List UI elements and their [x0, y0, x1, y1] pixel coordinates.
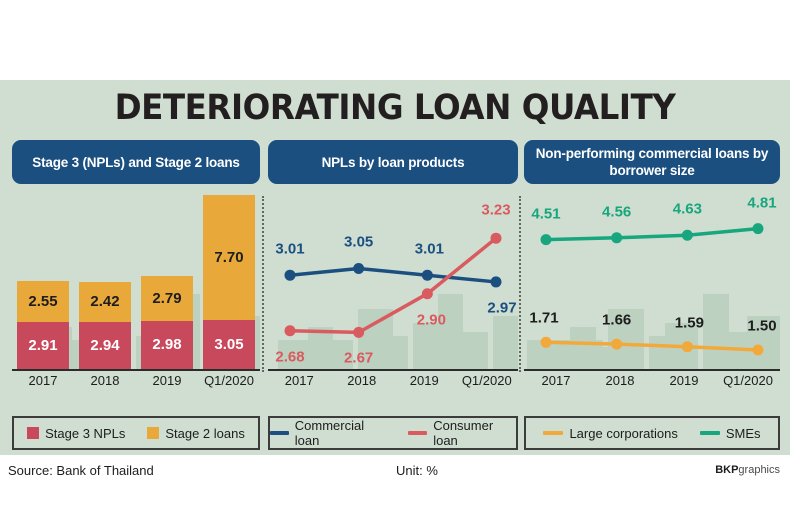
legend-label: Commercial loan: [295, 418, 387, 448]
line-chart-plot-2: 3.013.053.012.972.682.672.903.23 2017201…: [268, 188, 518, 393]
panel-header-1: Stage 3 (NPLs) and Stage 2 loans: [12, 140, 260, 184]
data-point-marker: [682, 341, 693, 352]
data-point-marker: [285, 270, 296, 281]
data-value-label: 1.66: [602, 312, 631, 329]
footer: Source: Bank of Thailand Unit: % BKPgrap…: [0, 455, 790, 527]
data-value-label: 4.63: [673, 201, 702, 218]
legend-label: SMEs: [726, 426, 761, 441]
data-value-label: 1.50: [747, 318, 776, 335]
data-value-label: 2.97: [487, 299, 516, 316]
x-axis-labels: 201720182019Q1/2020: [524, 373, 780, 393]
logo-light: graphics: [738, 464, 780, 476]
legend-item: Stage 2 loans: [147, 426, 245, 441]
data-point-marker: [491, 233, 502, 244]
x-axis-labels: 201720182019Q1/2020: [12, 373, 260, 393]
legend-swatch: [543, 431, 563, 435]
x-axis-tick-label: 2017: [12, 373, 74, 393]
x-axis-tick-label: 2017: [524, 373, 588, 393]
data-value-label: 2.68: [275, 348, 304, 365]
bar-segment-stage2: 2.55: [17, 281, 69, 322]
stacked-bar: 2.792.98: [141, 276, 193, 369]
data-value-label: 2.90: [417, 311, 446, 328]
unit-text: Unit: %: [396, 463, 438, 478]
x-axis-tick-label: Q1/2020: [716, 373, 780, 393]
stacked-bar: 7.703.05: [203, 195, 255, 369]
panel-stage3-stage2: Stage 3 (NPLs) and Stage 2 loans 2.552.9…: [12, 140, 260, 450]
data-value-label: 2.67: [344, 350, 373, 367]
bkp-graphics-logo: BKPgraphics: [715, 464, 780, 476]
x-axis-line: [524, 369, 780, 371]
data-point-marker: [753, 223, 764, 234]
data-value-label: 4.81: [747, 194, 776, 211]
bar-chart-plot: 2.552.912.422.942.792.987.703.05 2017201…: [12, 188, 260, 393]
x-axis-line: [12, 369, 260, 371]
x-axis-tick-label: 2018: [588, 373, 652, 393]
line-series-group: 3.013.053.012.972.682.672.903.23: [268, 188, 518, 369]
data-point-marker: [753, 345, 764, 356]
bar-column: 2.552.91: [12, 188, 74, 369]
legend-swatch: [408, 431, 427, 435]
legend-label: Consumer loan: [433, 418, 516, 448]
data-point-marker: [682, 230, 693, 241]
bar-column: 2.422.94: [74, 188, 136, 369]
x-axis-tick-label: Q1/2020: [198, 373, 260, 393]
data-value-label: 1.59: [675, 314, 704, 331]
panel-commercial-by-size: Non-performing commercial loans by borro…: [524, 140, 780, 450]
legend-swatch: [147, 427, 159, 439]
x-axis-tick-label: 2018: [331, 373, 394, 393]
data-value-label: 3.05: [344, 234, 373, 251]
legend-label: Large corporations: [569, 426, 677, 441]
bar-segment-stage2: 7.70: [203, 195, 255, 319]
data-point-marker: [353, 263, 364, 274]
legend-item: SMEs: [700, 426, 761, 441]
source-text: Source: Bank of Thailand: [8, 463, 154, 478]
line-path: [290, 238, 496, 332]
legend-panel-1: Stage 3 NPLsStage 2 loans: [12, 416, 260, 450]
panel-npls-by-product: NPLs by loan products 3.013.053.012.972.…: [268, 140, 518, 450]
logo-bold: BKP: [715, 464, 738, 476]
bar-segment-stage2: 2.42: [79, 282, 131, 321]
line-path: [290, 268, 496, 281]
legend-item: Large corporations: [543, 426, 677, 441]
data-value-label: 3.01: [415, 241, 444, 258]
bar-series-group: 2.552.912.422.942.792.987.703.05: [12, 188, 260, 369]
x-axis-line: [268, 369, 518, 371]
page-title: DETERIORATING LOAN QUALITY: [28, 88, 763, 128]
legend-panel-2: Commercial loanConsumer loan: [268, 416, 518, 450]
data-point-marker: [541, 337, 552, 348]
legend-label: Stage 2 loans: [165, 426, 245, 441]
x-axis-tick-label: 2019: [652, 373, 716, 393]
x-axis-tick-label: Q1/2020: [456, 373, 519, 393]
bar-segment-stage3: 2.98: [141, 321, 193, 369]
data-value-label: 4.56: [602, 203, 631, 220]
x-axis-tick-label: 2019: [393, 373, 456, 393]
data-point-marker: [611, 339, 622, 350]
data-point-marker: [611, 232, 622, 243]
bar-segment-stage3: 2.91: [17, 322, 69, 369]
data-point-marker: [541, 234, 552, 245]
legend-swatch: [270, 431, 289, 435]
panel-divider-1: [262, 196, 264, 372]
data-value-label: 4.51: [531, 205, 560, 222]
panel-divider-2: [519, 196, 521, 372]
x-axis-tick-label: 2018: [74, 373, 136, 393]
data-point-marker: [422, 270, 433, 281]
data-point-marker: [491, 276, 502, 287]
panel-header-3: Non-performing commercial loans by borro…: [524, 140, 780, 184]
line-chart-plot-3: 1.711.661.591.504.514.564.634.81 2017201…: [524, 188, 780, 393]
stacked-bar: 2.422.94: [79, 282, 131, 369]
legend-item: Consumer loan: [408, 418, 516, 448]
legend-swatch: [700, 431, 720, 435]
x-axis-tick-label: 2017: [268, 373, 331, 393]
data-point-marker: [422, 288, 433, 299]
bar-segment-stage3: 3.05: [203, 320, 255, 369]
data-point-marker: [353, 327, 364, 338]
bar-column: 7.703.05: [198, 188, 260, 369]
bar-column: 2.792.98: [136, 188, 198, 369]
stacked-bar: 2.552.91: [17, 281, 69, 369]
x-axis-labels: 201720182019Q1/2020: [268, 373, 518, 393]
legend-panel-3: Large corporationsSMEs: [524, 416, 780, 450]
infographic-root: DETERIORATING LOAN QUALITY Stage 3 (NPLs…: [0, 0, 790, 527]
legend-label: Stage 3 NPLs: [45, 426, 125, 441]
data-value-label: 3.23: [481, 202, 510, 219]
line-series-group: 1.711.661.591.504.514.564.634.81: [524, 188, 780, 369]
legend-item: Commercial loan: [270, 418, 386, 448]
data-value-label: 3.01: [275, 241, 304, 258]
line-path: [546, 342, 758, 350]
x-axis-tick-label: 2019: [136, 373, 198, 393]
bar-segment-stage2: 2.79: [141, 276, 193, 321]
legend-swatch: [27, 427, 39, 439]
data-value-label: 1.71: [529, 310, 558, 327]
bar-segment-stage3: 2.94: [79, 322, 131, 370]
line-path: [546, 229, 758, 240]
panel-header-2: NPLs by loan products: [268, 140, 518, 184]
data-point-marker: [285, 325, 296, 336]
legend-item: Stage 3 NPLs: [27, 426, 125, 441]
